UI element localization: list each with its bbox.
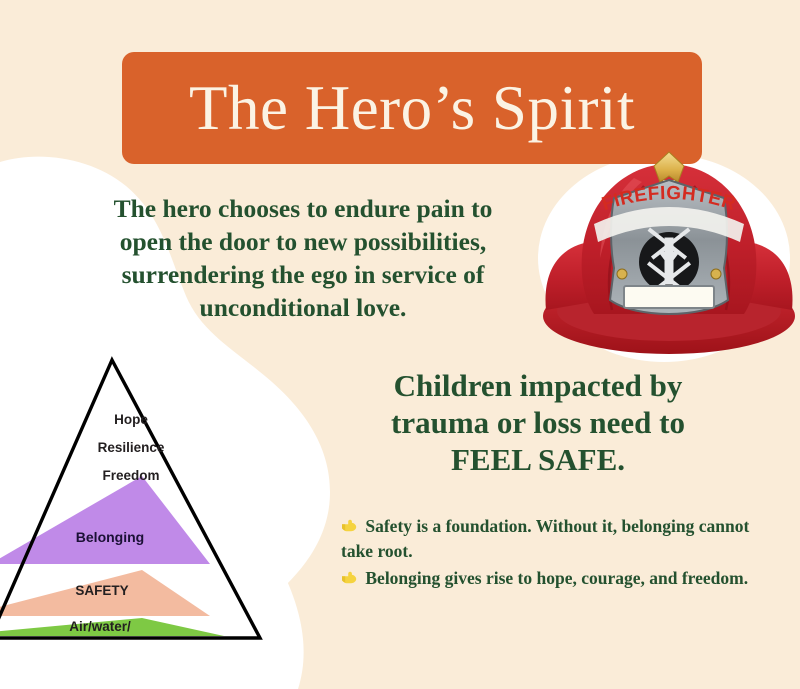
pyramid-label-resilience: Resilience (98, 440, 165, 455)
pyramid-label-freedom: Freedom (102, 468, 159, 483)
pyramid-band-belonging (0, 476, 210, 564)
badge-screw-right-icon (711, 269, 721, 279)
intro-line-3: surrendering the ego in service of (48, 258, 558, 291)
headline-line-1: Children impacted by (342, 367, 734, 404)
pyramid-label-base: Air/water/ (69, 619, 131, 634)
intro-paragraph: The hero chooses to endure pain to open … (48, 192, 558, 325)
headline-block: Children impacted by trauma or loss need… (342, 367, 734, 479)
bullet-list: Safety is a foundation. Without it, belo… (341, 514, 761, 591)
intro-line-2: open the door to new possibilities, (48, 225, 558, 258)
page-title: The Hero’s Spirit (189, 77, 635, 140)
list-item-text: Safety is a foundation. Without it, belo… (341, 516, 749, 561)
headline-line-2: trauma or loss need to (342, 404, 734, 441)
intro-line-4: unconditional love. (48, 291, 558, 324)
list-item: Safety is a foundation. Without it, belo… (341, 514, 761, 564)
needs-pyramid-diagram: Hope Resilience Freedom Belonging SAFETY… (24, 352, 288, 644)
intro-line-1: The hero chooses to endure pain to (48, 192, 558, 225)
pyramid-label-safety: SAFETY (75, 583, 128, 598)
badge-nameplate (624, 286, 714, 308)
title-banner: The Hero’s Spirit (122, 52, 702, 164)
infographic-canvas: The Hero’s Spirit The hero chooses to en… (0, 0, 800, 689)
badge-screw-left-icon (617, 269, 627, 279)
firefighter-helmet-illustration: FIREFIGHTER (538, 150, 800, 362)
pointing-right-hand-icon (341, 519, 358, 533)
list-item-text: Belonging gives rise to hope, courage, a… (365, 568, 748, 588)
pointing-right-hand-icon (341, 571, 358, 585)
pyramid-label-belonging: Belonging (76, 529, 144, 545)
headline-line-3: FEEL SAFE. (342, 441, 734, 478)
list-item: Belonging gives rise to hope, courage, a… (341, 566, 761, 591)
pyramid-label-hope: Hope (114, 412, 148, 427)
